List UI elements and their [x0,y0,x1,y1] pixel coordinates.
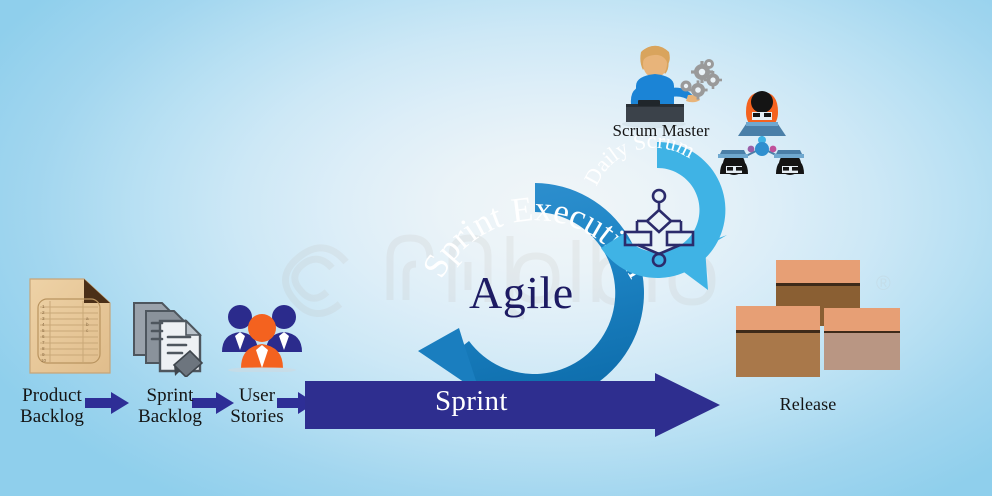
output-label-release: Release [740,394,876,414]
sprint-arrow-bar [305,373,720,437]
team-network-icon [716,82,808,176]
role-label-scrum-master: Scrum Master [600,121,722,140]
documents-edit-icon [128,293,212,377]
flowchart-icon [623,188,695,268]
svg-text:1: 1 [42,304,45,309]
agile-center-label: Agile [469,266,574,319]
person-with-gears-icon [614,42,722,128]
stage-label-user-stories: User Stories [222,385,292,428]
svg-text:3: 3 [42,316,45,321]
agile-scrum-diagram: ® 123 456 789 10 abc [0,0,992,496]
svg-text:8: 8 [42,346,45,351]
svg-text:9: 9 [42,352,45,357]
svg-text:7: 7 [42,340,45,345]
svg-text:5: 5 [42,328,45,333]
notepad-icon: 123 456 789 10 abc [28,277,112,375]
svg-text:2: 2 [42,310,45,315]
svg-text:4: 4 [42,322,45,327]
svg-text:b: b [86,322,89,327]
people-group-icon [216,300,308,372]
svg-text:6: 6 [42,334,45,339]
cardboard-boxes-icon [734,258,906,380]
svg-text:10: 10 [41,358,47,363]
svg-text:a: a [86,316,89,321]
stage-label-sprint-backlog: Sprint Backlog [124,385,216,428]
stage-label-product-backlog: Product Backlog [4,385,100,428]
sprint-bar-label: Sprint [435,385,508,418]
